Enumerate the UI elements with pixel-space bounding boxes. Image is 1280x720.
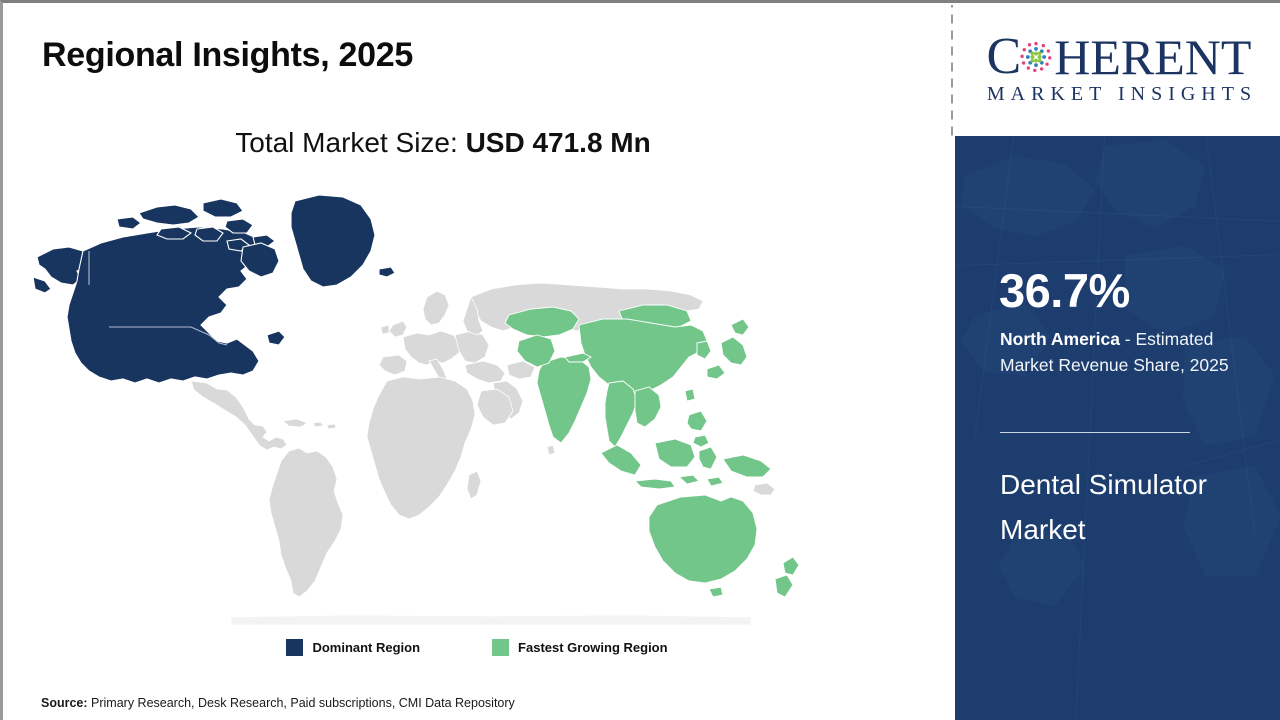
stat-description: North America - Estimated Market Revenue… (1000, 327, 1268, 379)
world-map (31, 185, 831, 625)
market-size-value: USD 471.8 Mn (466, 127, 651, 158)
source-text: Primary Research, Desk Research, Paid su… (91, 696, 515, 710)
left-content-pane: Regional Insights, 2025 Total Market Siz… (3, 3, 951, 720)
legend-label-fastest-growing: Fastest Growing Region (518, 640, 668, 655)
legend-item-dominant-region: Dominant Region (286, 639, 420, 656)
infographic-root: Regional Insights, 2025 Total Market Siz… (0, 0, 1280, 720)
map-dominant-region-north-america (33, 195, 395, 383)
legend-swatch-fastest-growing-icon (492, 639, 509, 656)
stat-panel: 36.7% North America - Estimated Market R… (955, 136, 1280, 720)
total-market-size: Total Market Size: USD 471.8 Mn (3, 127, 883, 159)
legend-item-fastest-growing-region: Fastest Growing Region (492, 639, 668, 656)
logo-letter-c: C (987, 31, 1022, 83)
logo-wordmark: C (987, 34, 1252, 80)
page-title: Regional Insights, 2025 (42, 36, 413, 75)
market-size-label: Total Market Size: (235, 127, 465, 158)
legend-label-dominant: Dominant Region (312, 640, 420, 655)
source-note: Source: Primary Research, Desk Research,… (41, 696, 515, 710)
right-column: C (951, 3, 1280, 720)
panel-world-map-texture (955, 136, 1280, 720)
globe-icon (1019, 40, 1053, 74)
map-legend: Dominant Region Fastest Growing Region (3, 639, 951, 656)
logo-word-rest: HERENT (1054, 32, 1251, 82)
stat-percentage: 36.7% (999, 267, 1130, 314)
dashed-divider (951, 5, 953, 136)
source-label: Source: (41, 696, 91, 710)
brand-logo: C (955, 3, 1280, 136)
panel-divider-rule (1000, 432, 1190, 433)
logo-subtitle: MARKET INSIGHTS (981, 83, 1257, 106)
stat-region-name: North America (1000, 329, 1120, 349)
legend-swatch-dominant-icon (286, 639, 303, 656)
market-name: Dental Simulator Market (1000, 462, 1250, 553)
